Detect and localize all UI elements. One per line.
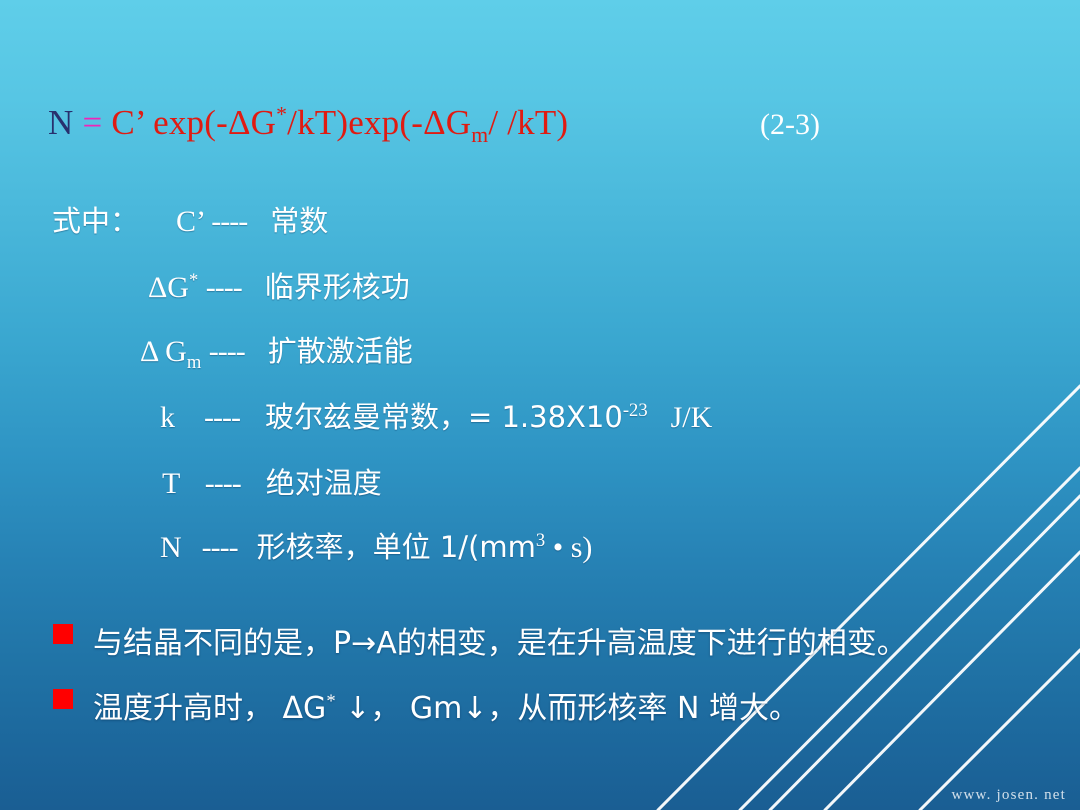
definition-symbol-star: * bbox=[189, 270, 198, 291]
definition-dash-1: ---- bbox=[206, 271, 242, 304]
definition-symbol-cprime: C’ bbox=[176, 205, 204, 238]
bullet-marker-square-2 bbox=[53, 689, 73, 709]
definition-symbol-n: N bbox=[160, 531, 182, 564]
definition-meaning-critical-energy: 临界形核功 bbox=[265, 270, 410, 304]
equation-number: (2-3) bbox=[760, 108, 820, 142]
bullet-2-content-part1: 温度升高时， ΔG bbox=[93, 691, 326, 726]
definition-row-boltzmann: k ---- 玻尔兹曼常数，= 1.38X10-23 J/K bbox=[160, 394, 712, 436]
definition-row-nucleation-rate: N ---- 形核率，单位 1/(mm3 • s) bbox=[160, 524, 592, 566]
bullet-text-2: 温度升高时， ΔG* ↓， Gm↓，从而形核率 N 增大。 bbox=[93, 683, 799, 727]
bullet-1-content: 与结晶不同的是，P→A的相变，是在升高温度下进行的相变。 bbox=[93, 626, 907, 661]
definition-dash-3: ---- bbox=[204, 401, 240, 434]
definition-dash-5: ---- bbox=[202, 531, 238, 564]
definition-meaning-nucleation-rate: 形核率，单位 1/(mm bbox=[257, 530, 536, 564]
definition-symbol-delta-g: ΔG bbox=[148, 271, 189, 304]
definition-row-critical-energy: ΔG* ---- 临界形核功 bbox=[148, 264, 410, 306]
definition-dash-0: ---- bbox=[211, 205, 247, 238]
definition-intro-label: 式中： bbox=[52, 204, 139, 238]
bullet-2-content-part2: ↓， Gm↓，从而形核率 N 增大。 bbox=[336, 691, 799, 726]
formula-equation: N = C’ exp(-ΔG*/kT)exp(-ΔGm/ /kT) bbox=[48, 103, 568, 143]
definition-dash-4: ---- bbox=[205, 467, 241, 500]
formula-body-part3: / /kT) bbox=[488, 103, 568, 142]
definition-meaning-temperature: 绝对温度 bbox=[266, 466, 382, 500]
definition-meaning-constant: 常数 bbox=[270, 204, 328, 238]
formula-body-part1: C’ exp(-ΔG bbox=[111, 103, 276, 142]
decorative-diagonal-lines bbox=[620, 290, 1080, 810]
slide-canvas: N = C’ exp(-ΔG*/kT)exp(-ΔGm/ /kT) (2-3) … bbox=[0, 0, 1080, 810]
definition-symbol-t: T bbox=[162, 467, 180, 500]
formula-subscript-m: m bbox=[471, 123, 488, 147]
definition-exponent-mm-cubed: 3 bbox=[536, 530, 545, 551]
formula-equals-sign: = bbox=[82, 103, 102, 142]
bullet-marker-square-1 bbox=[53, 624, 73, 644]
definition-row-diffusion-energy: Δ Gm ---- 扩散激活能 bbox=[140, 328, 413, 370]
formula-superscript-star: * bbox=[276, 102, 287, 126]
definition-meaning-diffusion-energy: 扩散激活能 bbox=[268, 334, 413, 368]
definition-symbol-k: k bbox=[160, 401, 175, 434]
definition-symbol-sub-m: m bbox=[187, 352, 201, 373]
bullet-2-superscript-star: * bbox=[326, 691, 335, 712]
definition-symbol-delta-gm: Δ G bbox=[140, 335, 187, 368]
formula-body-part2: /kT)exp(-ΔG bbox=[287, 103, 471, 142]
definition-row-constant: 式中： C’ ---- 常数 bbox=[52, 198, 328, 240]
definition-dash-2: ---- bbox=[209, 335, 245, 368]
formula-symbol-n: N bbox=[48, 103, 73, 142]
definition-meaning-boltzmann: 玻尔兹曼常数，= 1.38X10 bbox=[265, 400, 623, 434]
definition-unit-boltzmann: J/K bbox=[671, 401, 713, 434]
site-watermark: www. josen. net bbox=[951, 787, 1066, 804]
definition-exponent-boltzmann: -23 bbox=[623, 400, 648, 421]
definition-row-temperature: T ---- 绝对温度 bbox=[162, 460, 382, 502]
definition-unit-seconds: • s) bbox=[553, 531, 593, 564]
bullet-text-1: 与结晶不同的是，P→A的相变，是在升高温度下进行的相变。 bbox=[93, 618, 907, 662]
